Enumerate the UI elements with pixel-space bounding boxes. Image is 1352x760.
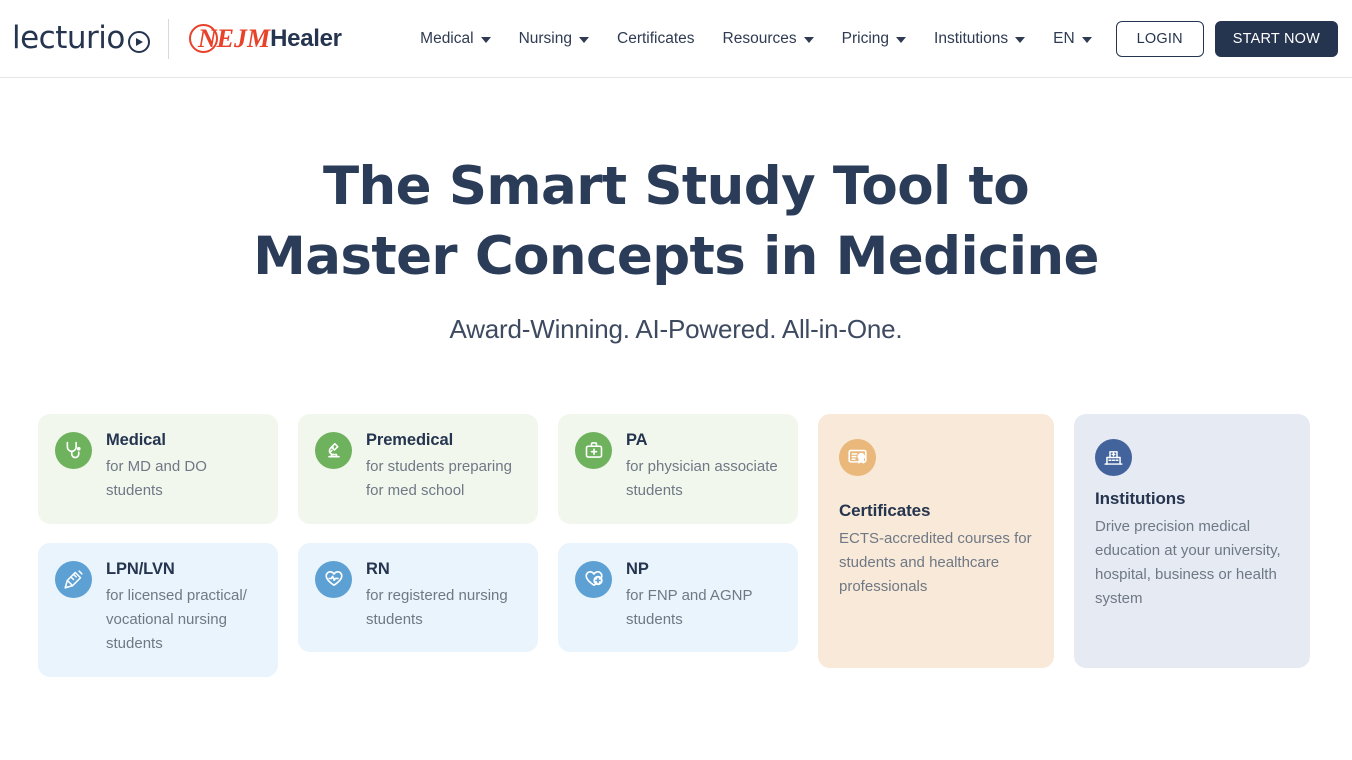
card-description: for students preparing for med school	[366, 455, 520, 504]
card-column-2: Premedical for students preparing for me…	[298, 414, 538, 652]
chevron-down-icon	[896, 37, 906, 43]
card-column-1: Medical for MD and DO students LPN/LVN	[38, 414, 278, 677]
nav-item-label: Nursing	[519, 30, 572, 48]
card-title: Medical	[106, 431, 260, 449]
card-title: Certificates	[839, 502, 1032, 521]
card-title: Premedical	[366, 431, 520, 449]
card-description: for FNP and AGNP students	[626, 584, 780, 633]
chevron-down-icon	[1082, 37, 1092, 43]
chevron-down-icon	[481, 37, 491, 43]
nejm-wordmark: NEJM	[198, 26, 270, 52]
card-np[interactable]: NP for FNP and AGNP students	[558, 543, 798, 653]
start-now-button[interactable]: START NOW	[1215, 21, 1338, 57]
certificate-icon	[839, 439, 876, 476]
card-title: Institutions	[1095, 490, 1288, 509]
card-description: Drive precision medical education at you…	[1095, 515, 1288, 612]
card-certificates[interactable]: Certificates ECTS-accredited courses for…	[818, 414, 1054, 668]
card-description: for licensed practical/ vocational nursi…	[106, 584, 260, 657]
nejm-healer-logo[interactable]: NEJM Healer	[189, 24, 342, 53]
card-rn[interactable]: RN for registered nursing students	[298, 543, 538, 653]
lecturio-wordmark: lecturio	[12, 23, 125, 54]
card-title: NP	[626, 560, 780, 578]
syringe-icon	[55, 561, 92, 598]
hero-section: The Smart Study Tool to Master Concepts …	[0, 78, 1352, 345]
nav-item-resources[interactable]: Resources	[709, 22, 828, 56]
brand-lockup: lecturio NEJM Healer	[12, 19, 342, 59]
card-premedical[interactable]: Premedical for students preparing for me…	[298, 414, 538, 524]
nav-item-certificates[interactable]: Certificates	[603, 22, 709, 56]
nav-item-nursing[interactable]: Nursing	[505, 22, 603, 56]
nav-item-label: Resources	[723, 30, 797, 48]
nav-item-pricing[interactable]: Pricing	[828, 22, 920, 56]
heart-plus-icon	[575, 561, 612, 598]
page-title-line-2: Master Concepts in Medicine	[253, 226, 1099, 287]
page-title: The Smart Study Tool to Master Concepts …	[0, 152, 1352, 292]
nav-item-label: EN	[1053, 30, 1075, 48]
card-title: LPN/LVN	[106, 560, 260, 578]
play-circle-icon	[128, 31, 150, 53]
card-description: ECTS-accredited courses for students and…	[839, 527, 1032, 600]
chevron-down-icon	[804, 37, 814, 43]
page-title-line-1: The Smart Study Tool to	[323, 156, 1029, 217]
chevron-down-icon	[1015, 37, 1025, 43]
login-button[interactable]: LOGIN	[1116, 21, 1204, 57]
audience-card-grid: Medical for MD and DO students LPN/LVN	[38, 414, 1314, 677]
card-description: for registered nursing students	[366, 584, 520, 633]
card-description: for MD and DO students	[106, 455, 260, 504]
healer-wordmark: Healer	[270, 27, 342, 51]
stethoscope-icon	[55, 432, 92, 469]
hero-subtitle: Award-Winning. AI-Powered. All-in-One.	[0, 314, 1352, 345]
nav-item-label: Institutions	[934, 30, 1008, 48]
card-institutions[interactable]: Institutions Drive precision medical edu…	[1074, 414, 1310, 668]
main-navigation: Medical Nursing Certificates Resources P…	[406, 21, 1338, 57]
card-column-3: PA for physician associate students NP f…	[558, 414, 798, 652]
nav-item-label: Medical	[420, 30, 473, 48]
brand-divider	[168, 19, 169, 59]
nav-item-institutions[interactable]: Institutions	[920, 22, 1039, 56]
microscope-icon	[315, 432, 352, 469]
card-title: RN	[366, 560, 520, 578]
chevron-down-icon	[579, 37, 589, 43]
card-title: PA	[626, 431, 780, 449]
nav-item-medical[interactable]: Medical	[406, 22, 504, 56]
card-medical[interactable]: Medical for MD and DO students	[38, 414, 278, 524]
nav-item-label: Pricing	[842, 30, 889, 48]
nav-item-language[interactable]: EN	[1039, 22, 1106, 56]
card-description: for physician associate students	[626, 455, 780, 504]
card-pa[interactable]: PA for physician associate students	[558, 414, 798, 524]
heart-pulse-icon	[315, 561, 352, 598]
card-lpn-lvn[interactable]: LPN/LVN for licensed practical/ vocation…	[38, 543, 278, 677]
nav-item-label: Certificates	[617, 30, 695, 48]
hospital-icon	[1095, 439, 1132, 476]
lecturio-logo[interactable]: lecturio	[12, 23, 168, 54]
site-header: lecturio NEJM Healer Medical Nursing Cer…	[0, 0, 1352, 78]
medical-bag-icon	[575, 432, 612, 469]
